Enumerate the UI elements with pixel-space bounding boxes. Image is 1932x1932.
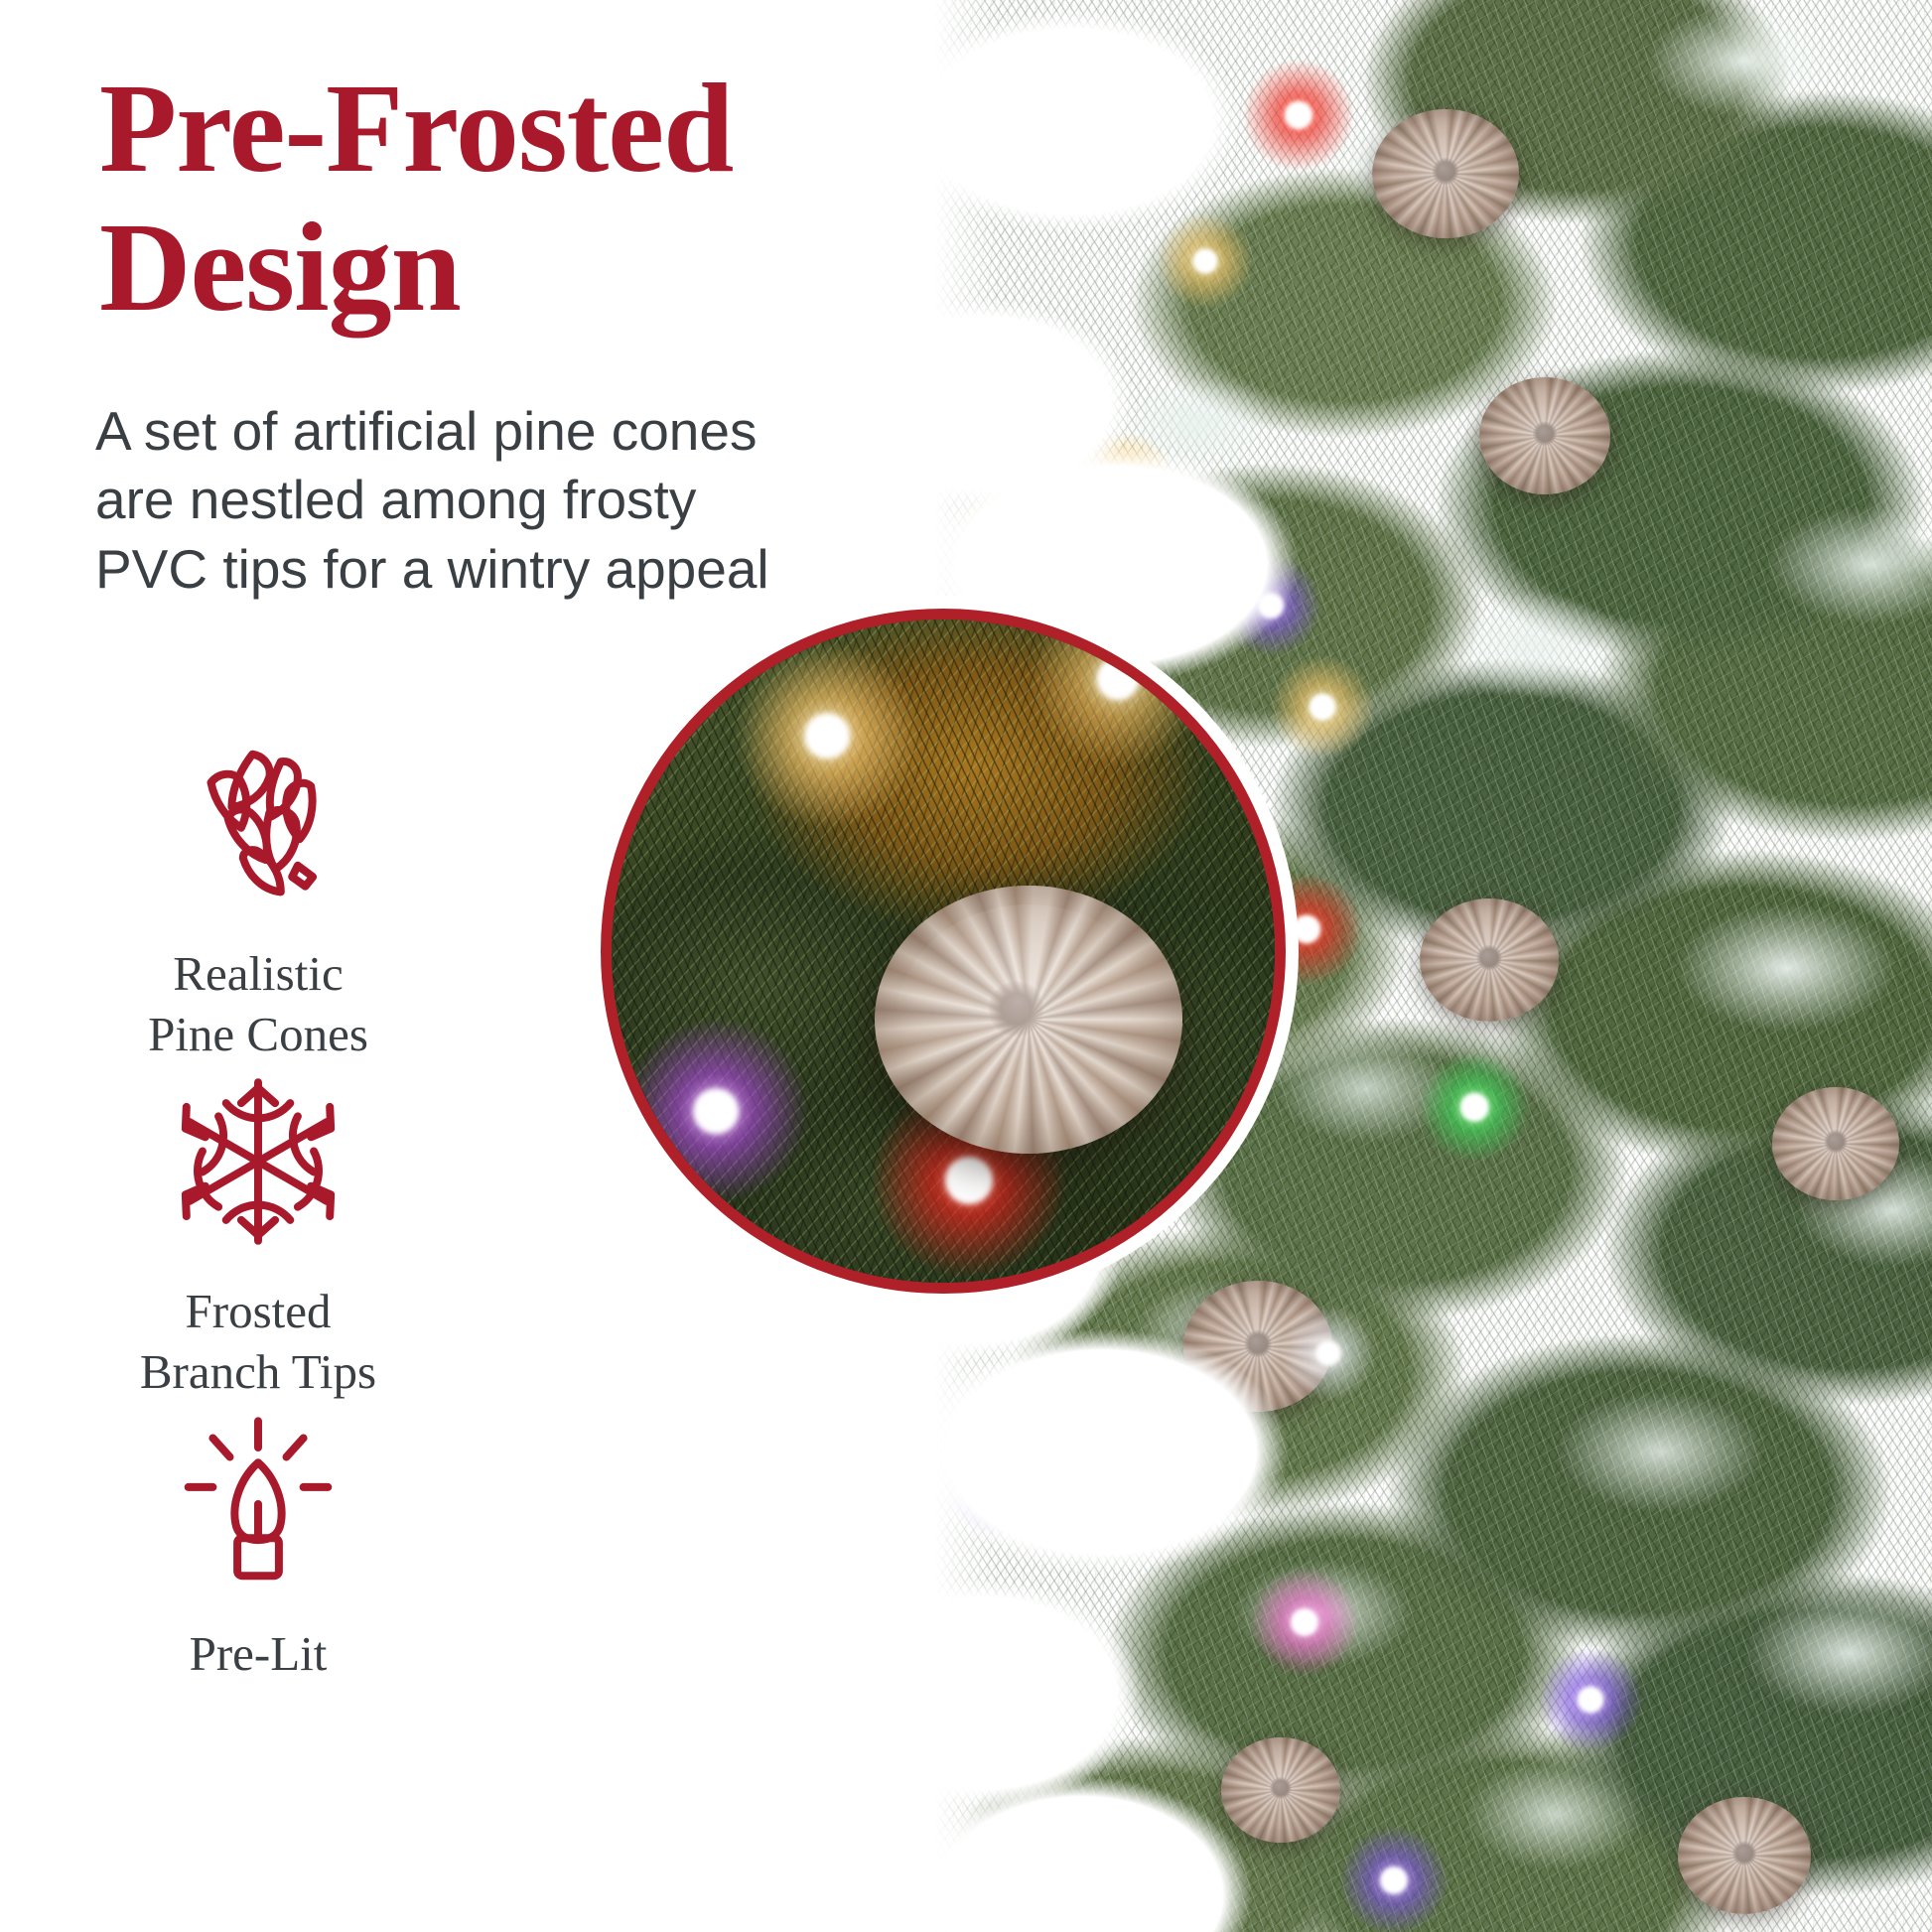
inset-light-core (1096, 657, 1139, 700)
feature-label: Pre-Lit (0, 1624, 516, 1685)
pine-cone-icon (164, 730, 352, 918)
feature-label: Realistic Pine Cones (0, 944, 516, 1065)
feature-list: Realistic Pine Cones (0, 730, 516, 1747)
snowflake-icon (164, 1067, 352, 1256)
feature-item-pre-lit: Pre-Lit (0, 1410, 516, 1747)
page-title: Pre-Frosted Design (99, 60, 913, 337)
product-feature-graphic: Pre-Frosted Design A set of artificial p… (0, 0, 1932, 1932)
feature-item-realistic-pine-cones: Realistic Pine Cones (0, 730, 516, 1067)
light-bulb-icon (164, 1410, 352, 1598)
inset-light-core (945, 1157, 993, 1204)
text-panel: Pre-Frosted Design A set of artificial p… (0, 0, 933, 1932)
page-subtitle: A set of artificial pine cones are nestl… (95, 397, 880, 604)
feature-item-frosted-branch-tips: Frosted Branch Tips (0, 1067, 516, 1410)
feature-label: Frosted Branch Tips (0, 1282, 516, 1403)
